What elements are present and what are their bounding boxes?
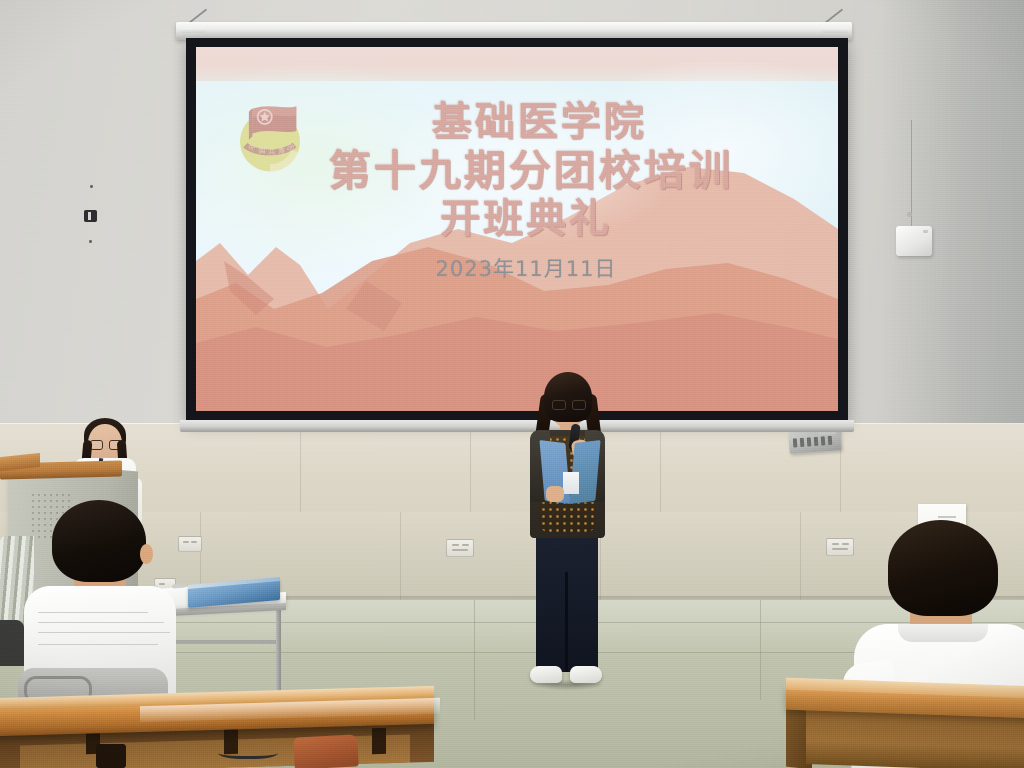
wall-screw [89,240,92,243]
presenter-shoe-left [530,666,562,683]
slide-date: 2023年11月11日 [214,253,838,283]
presenter-center [506,372,626,704]
student-left-foreground [18,500,178,700]
presenter-pants-seam [565,572,568,672]
under-desk-cable [218,744,278,759]
wall-fixture-left [84,210,97,222]
under-desk-bag [293,734,359,768]
wall-control-box[interactable] [896,226,932,256]
projection-screen-surface: 中 国 共 青 团 基础医学院 第十九期分团校培训 开班典礼 2023年11月1… [196,47,838,411]
presenter-glasses-icon [552,400,584,408]
wall-outlet[interactable] [826,538,854,556]
student-right-hair [888,520,998,616]
wall-screw [90,185,93,188]
slide-title-line-3: 开班典礼 [214,198,838,241]
student-right-collar [898,624,988,642]
front-desk-slot [372,728,386,754]
presenter-shoe-right [570,666,602,683]
projection-screen-frame: 中 国 共 青 团 基础医学院 第十九期分团校培训 开班典礼 2023年11月1… [186,38,848,420]
floor-seam [760,600,761,700]
wall-outlet[interactable] [178,536,202,552]
wall-power-strip[interactable] [788,428,841,454]
slide-text-block: 基础医学院 第十九期分团校培训 开班典礼 2023年11月11日 [196,101,838,283]
slide-title-line-1: 基础医学院 [240,101,838,144]
host-glasses-icon [90,440,120,448]
wall-upper-shading [880,0,1024,430]
classroom-photo: 中 国 共 青 团 基础医学院 第十九期分团校培训 开班典礼 2023年11月1… [0,0,1024,768]
student-left-hair [52,500,146,582]
table-leg [276,608,281,700]
under-desk-object [96,744,126,768]
presenter-hair [544,372,592,422]
slide-title-line-2: 第十九期分团校培训 [224,148,838,193]
floor-seam [474,600,475,720]
presenter-hand-left [546,486,564,502]
wall-screw [907,212,912,217]
wall-outlet[interactable] [446,539,474,557]
student-left-ear [140,544,153,564]
